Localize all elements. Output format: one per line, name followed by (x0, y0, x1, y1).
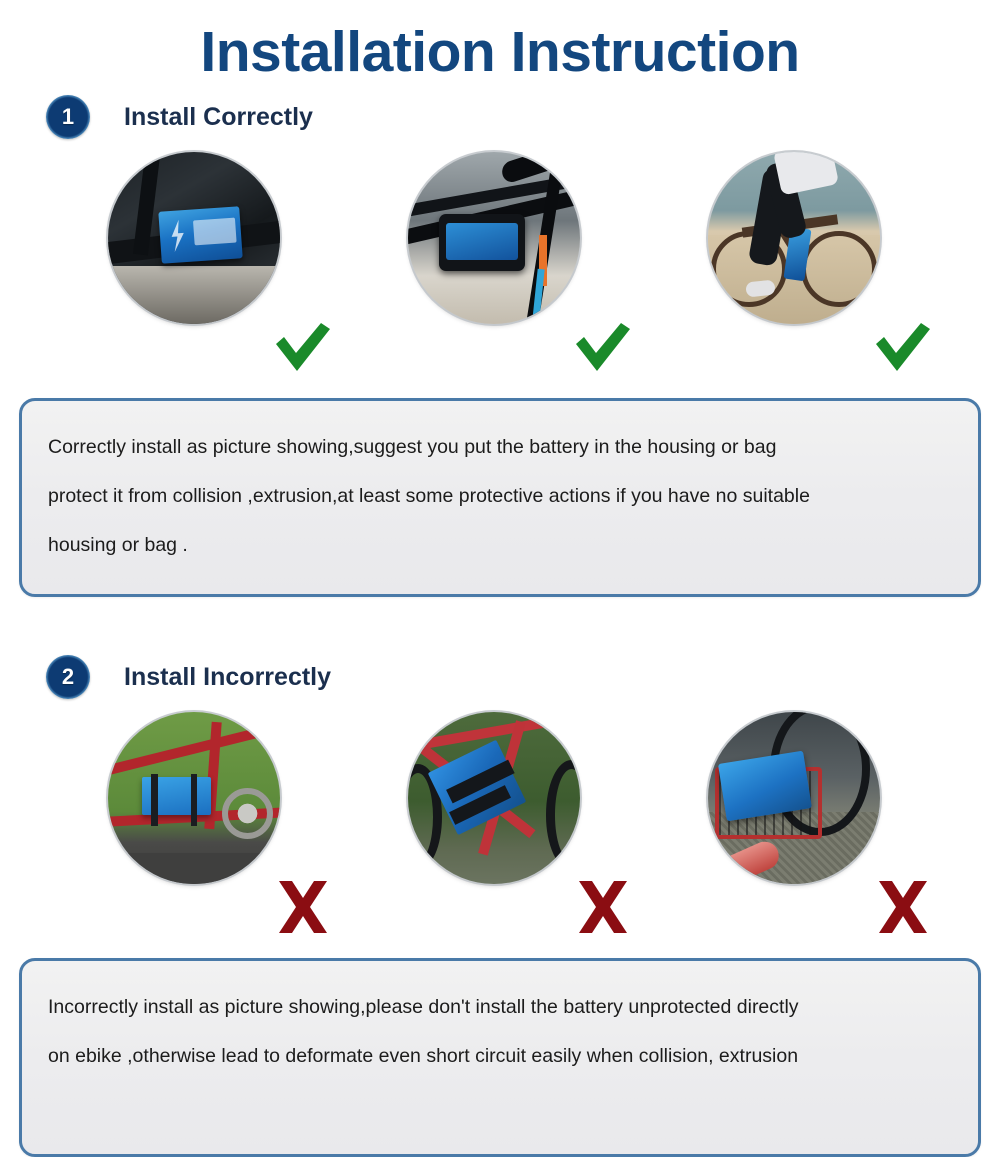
step-2-photo-3 (708, 712, 924, 928)
step-1-header: 1 Install Correctly (0, 95, 1000, 139)
step-1-badge: 1 (46, 95, 90, 139)
installation-instruction-page: Installation Instruction 1 Install Corre… (0, 0, 1000, 1000)
photo-circle (708, 152, 880, 324)
step-2-photo-2 (408, 712, 624, 928)
photo-circle (408, 712, 580, 884)
step-2-note-box: Incorrectly install as picture showing,p… (19, 958, 981, 1157)
step-2-header: 2 Install Incorrectly (0, 655, 1000, 699)
photo-circle (108, 712, 280, 884)
check-icon (270, 320, 334, 376)
step-2-heading: Install Incorrectly (124, 663, 331, 692)
note-line: Incorrectly install as picture showing,p… (48, 983, 952, 1032)
cross-icon (272, 878, 334, 936)
step-2-badge: 2 (46, 655, 90, 699)
note-line: on ebike ,otherwise lead to deformate ev… (48, 1032, 952, 1081)
photo-circle (108, 152, 280, 324)
step-1-photo-1 (108, 152, 324, 368)
step-1-note-box: Correctly install as picture showing,sug… (19, 398, 981, 597)
page-title: Installation Instruction (0, 0, 1000, 81)
cross-icon (872, 878, 934, 936)
step-1-photo-3 (708, 152, 924, 368)
step-1-number: 1 (62, 106, 74, 128)
photo-circle (408, 152, 580, 324)
check-icon (570, 320, 634, 376)
note-line: Correctly install as picture showing,sug… (48, 423, 952, 472)
note-line: protect it from collision ,extrusion,at … (48, 472, 952, 521)
step-2-photo-1 (108, 712, 324, 928)
step-2-photo-row (0, 712, 1000, 928)
photo-circle (708, 712, 880, 884)
check-icon (870, 320, 934, 376)
note-line: housing or bag . (48, 521, 952, 570)
cross-icon (572, 878, 634, 936)
step-1-heading: Install Correctly (124, 103, 313, 132)
note-line-empty (48, 1081, 952, 1130)
step-2-number: 2 (62, 666, 74, 688)
step-1-photo-row (0, 152, 1000, 368)
step-1-photo-2 (408, 152, 624, 368)
